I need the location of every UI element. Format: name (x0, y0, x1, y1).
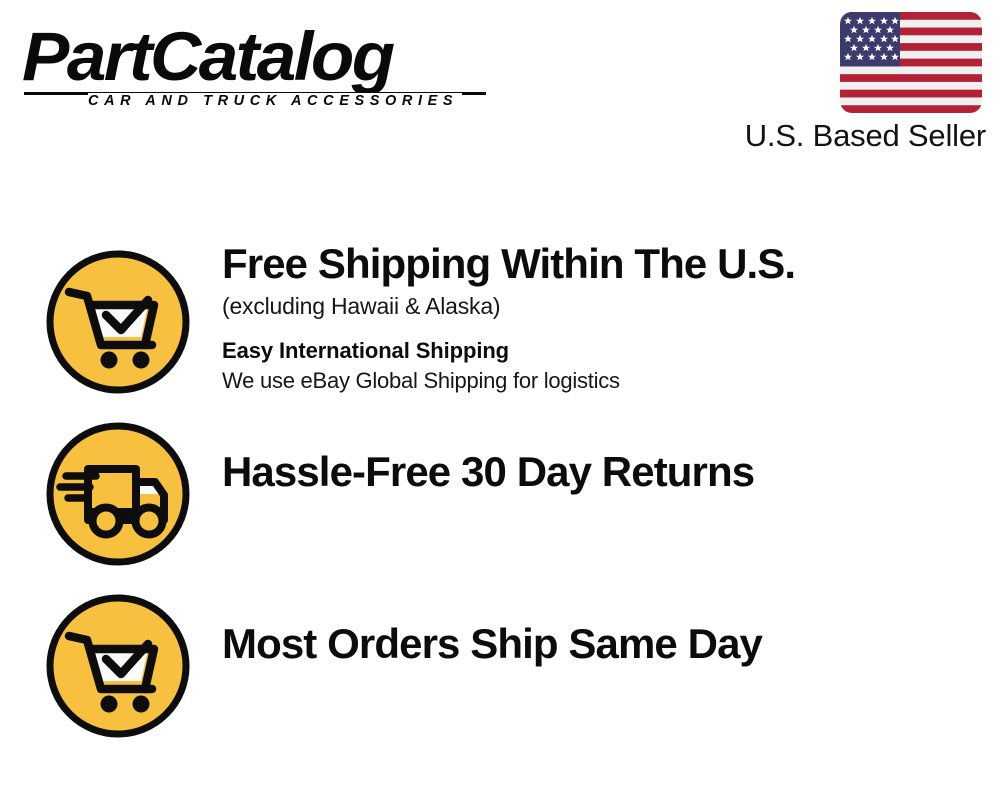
benefit-note: (excluding Hawaii & Alaska) (222, 290, 992, 322)
benefit-text-block: Hassle-Free 30 Day Returns (222, 448, 992, 496)
page-header: PartCatalog CAR AND TRUCK ACCESSORIES (0, 0, 1000, 170)
benefit-text-block: Most Orders Ship Same Day (222, 620, 992, 668)
shopping-cart-check-icon (44, 248, 192, 396)
benefit-title: Most Orders Ship Same Day (222, 620, 992, 668)
brand-tagline: CAR AND TRUCK ACCESSORIES (88, 93, 462, 109)
benefit-sub-heading: Easy International Shipping (222, 336, 992, 366)
us-based-seller-label: U.S. Based Seller (745, 118, 986, 154)
us-flag-icon (840, 12, 982, 113)
benefit-text-block: Free Shipping Within The U.S. (excluding… (222, 240, 992, 396)
benefit-title: Free Shipping Within The U.S. (222, 240, 992, 288)
shopping-cart-check-icon (44, 592, 192, 740)
brand-logo[interactable]: PartCatalog CAR AND TRUCK ACCESSORIES (22, 22, 492, 114)
benefit-sub-note: We use eBay Global Shipping for logistic… (222, 366, 992, 396)
benefit-title: Hassle-Free 30 Day Returns (222, 448, 992, 496)
brand-wordmark: PartCatalog (22, 22, 506, 92)
delivery-truck-icon (44, 420, 192, 568)
